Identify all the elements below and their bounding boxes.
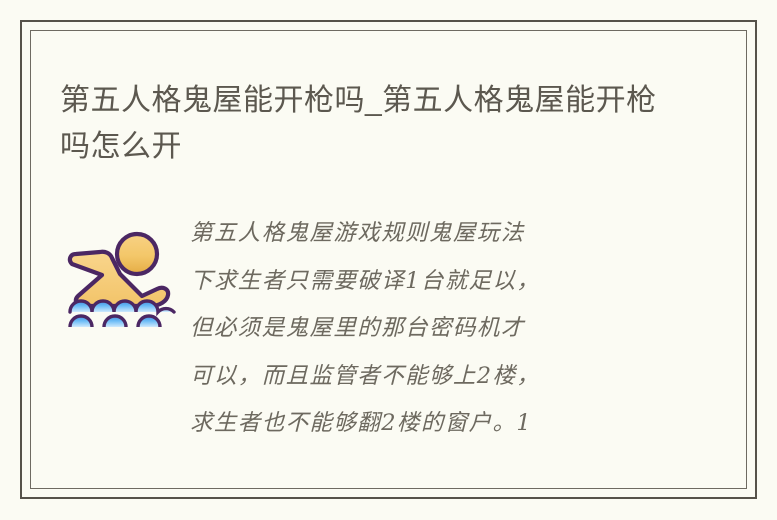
- article-line: 可以，而且监管者不能够上2楼，: [190, 353, 723, 401]
- article-text: 第五人格鬼屋游戏规则鬼屋玩法 下求生者只需要破译1台就足以， 但必须是鬼屋里的那…: [190, 197, 737, 448]
- article-frame: 第五人格鬼屋能开枪吗_第五人格鬼屋能开枪吗怎么开: [20, 20, 757, 499]
- page-title: 第五人格鬼屋能开枪吗_第五人格鬼屋能开枪吗怎么开: [60, 78, 670, 170]
- article-line: 第五人格鬼屋游戏规则鬼屋玩法: [190, 210, 723, 258]
- article-line: 但必须是鬼屋里的那台密码机才: [190, 305, 723, 353]
- article-line: 下求生者只需要破译1台就足以，: [190, 258, 723, 306]
- swimmer-icon: [64, 227, 176, 327]
- article-body: 第五人格鬼屋游戏规则鬼屋玩法 下求生者只需要破译1台就足以， 但必须是鬼屋里的那…: [50, 197, 737, 477]
- article-line: 求生者也不能够翻2楼的窗户。1: [190, 400, 723, 448]
- article-figure: [50, 197, 190, 327]
- swimmer-head: [117, 234, 157, 274]
